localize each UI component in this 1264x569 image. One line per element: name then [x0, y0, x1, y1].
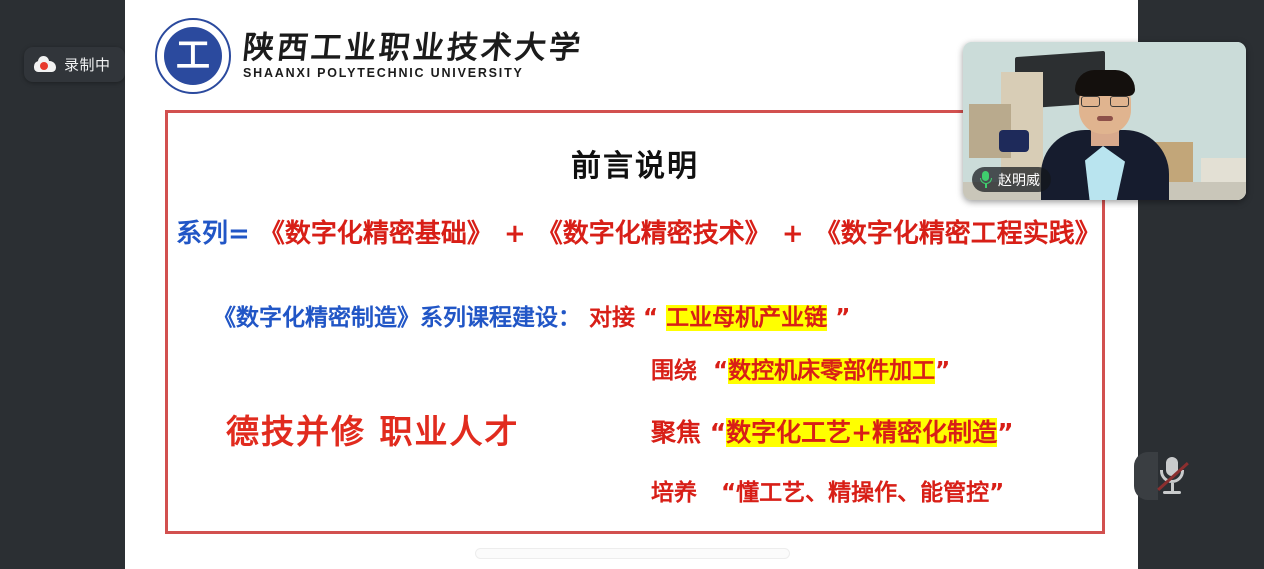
bullet-2-close-quote: ” [997, 418, 1013, 447]
series-equation-line: 系列= 《数字化精密基础》 + 《数字化精密技术》 + 《数字化精密工程实践》 [176, 213, 1101, 250]
participant-name-label: 赵明威 [998, 170, 1040, 190]
university-name-en: SHAANXI POLYTECHNIC UNIVERSITY [243, 66, 583, 80]
university-wordmark: 陕西工业职业技术大学 SHAANXI POLYTECHNIC UNIVERSIT… [243, 32, 583, 81]
bullet-3-close-quote: ” [989, 480, 1004, 506]
series-item-1: 《数字化精密基础》 [259, 219, 493, 249]
participant-video-tile[interactable]: 赵明威 [963, 42, 1246, 200]
bullet-1-verb: 围绕 [651, 358, 697, 384]
bullet-3-verb: 培养 [651, 480, 697, 506]
cloud-record-icon [34, 57, 56, 72]
course-construction-line: 《数字化精密制造》系列课程建设： 对接 “ 工业母机产业链 ” [213, 298, 850, 332]
microphone-muted-icon[interactable] [1155, 455, 1189, 499]
bullet-2-open-quote: “ [710, 418, 726, 447]
bullet-2-text: 数字化工艺+精密化制造 [726, 418, 997, 447]
university-name-cn: 陕西工业职业技术大学 [241, 32, 584, 65]
course-highlight-text: 工业母机产业链 [666, 305, 827, 331]
recording-badge-label: 录制中 [64, 54, 111, 75]
left-chrome-rail: 录制中 [0, 0, 125, 569]
bullet-3-open-quote: “ [721, 480, 736, 506]
slide-scroll-indicator[interactable] [475, 548, 790, 559]
video-blue-object [999, 130, 1029, 152]
course-verb: 对接 [589, 305, 635, 331]
slide-title: 前言说明 [168, 141, 1102, 185]
slide-slogan: 德技并修 职业人才 [226, 405, 520, 453]
video-person-glasses [1081, 96, 1129, 107]
series-prefix: 系列= [176, 219, 250, 249]
bullet-1-close-quote: ” [935, 358, 950, 384]
university-emblem-icon: 工 [155, 18, 231, 94]
emblem-glyph: 工 [176, 39, 210, 73]
course-open-quote: “ [643, 305, 658, 331]
participant-name-chip: 赵明威 [972, 167, 1051, 192]
video-person-mouth [1097, 116, 1113, 121]
bullet-1-open-quote: “ [713, 358, 728, 384]
series-separator-1: + [502, 219, 528, 249]
series-item-2: 《数字化精密技术》 [537, 219, 771, 249]
meeting-screen-share-view: 录制中 工 陕西工业职业技术大学 SHAANXI POLYTECHNIC UNI… [0, 0, 1264, 569]
video-person-hair [1075, 70, 1135, 96]
bullet-line-1: 围绕 “数控机床零部件加工” [651, 351, 950, 385]
bullet-2-verb: 聚焦 [651, 418, 701, 447]
recording-badge[interactable]: 录制中 [24, 47, 125, 82]
course-subject: 《数字化精密制造》系列课程建设： [213, 305, 581, 331]
course-close-quote: ” [835, 305, 850, 331]
series-separator-2: + [780, 219, 806, 249]
bullet-line-2: 聚焦 “数字化工艺+精密化制造” [651, 413, 1014, 449]
series-item-3: 《数字化精密工程实践》 [815, 219, 1101, 249]
bullet-3-text: 懂工艺、精操作、能管控 [736, 480, 989, 506]
bullet-1-text: 数控机床零部件加工 [728, 358, 935, 384]
university-logo: 工 陕西工业职业技术大学 SHAANXI POLYTECHNIC UNIVERS… [155, 18, 583, 94]
microphone-on-icon [979, 171, 992, 188]
bullet-line-3: 培养 “懂工艺、精操作、能管控” [651, 473, 1004, 507]
